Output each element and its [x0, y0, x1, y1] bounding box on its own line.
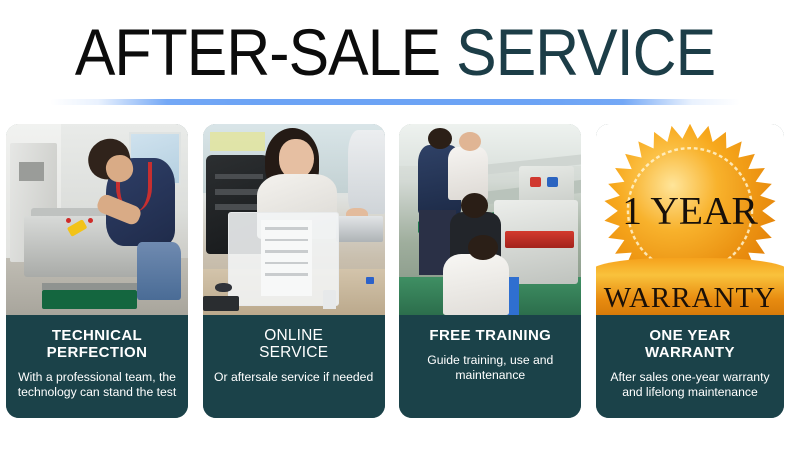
card-title: TECHNICAL PERFECTION	[14, 327, 180, 361]
card-image-office-service	[203, 124, 385, 315]
page-title: AFTER-SALE SERVICE	[32, 18, 759, 86]
warranty-ribbon-text: WARRANTY	[596, 283, 784, 313]
service-card-row: TECHNICAL PERFECTION With a professional…	[0, 124, 790, 420]
page-title-primary: AFTER-SALE	[75, 15, 456, 89]
card-body-technical-perfection: TECHNICAL PERFECTION With a professional…	[6, 315, 188, 418]
card-image-training	[399, 124, 581, 315]
card-title: ONE YEAR WARRANTY	[604, 327, 776, 361]
card-description: Guide training, use and maintenance	[407, 353, 573, 382]
page-title-secondary: SERVICE	[456, 15, 715, 89]
header-divider	[50, 99, 740, 105]
card-description: After sales one-year warranty and lifelo…	[604, 370, 776, 399]
page-header: AFTER-SALE SERVICE	[0, 0, 790, 112]
service-card-one-year-warranty[interactable]: 1 YEAR WARRANTY ONE YEAR WARRANTY After …	[596, 124, 784, 418]
card-body-one-year-warranty: ONE YEAR WARRANTY After sales one-year w…	[596, 315, 784, 418]
card-body-free-training: FREE TRAINING Guide training, use and ma…	[399, 315, 581, 418]
footer-whitespace	[0, 420, 790, 459]
card-description: Or aftersale service if needed	[211, 370, 377, 385]
card-title: FREE TRAINING	[407, 327, 573, 344]
card-image-technician	[6, 124, 188, 315]
card-body-online-service: ONLINE SERVICE Or aftersale service if n…	[203, 315, 385, 418]
service-card-online-service[interactable]: ONLINE SERVICE Or aftersale service if n…	[203, 124, 385, 418]
card-description: With a professional team, the technology…	[14, 370, 180, 399]
card-image-warranty-seal: 1 YEAR WARRANTY	[596, 124, 784, 315]
service-card-free-training[interactable]: FREE TRAINING Guide training, use and ma…	[399, 124, 581, 418]
service-card-technical-perfection[interactable]: TECHNICAL PERFECTION With a professional…	[6, 124, 188, 418]
card-title: ONLINE SERVICE	[211, 327, 377, 361]
warranty-badge-text: 1 YEAR	[622, 188, 758, 232]
